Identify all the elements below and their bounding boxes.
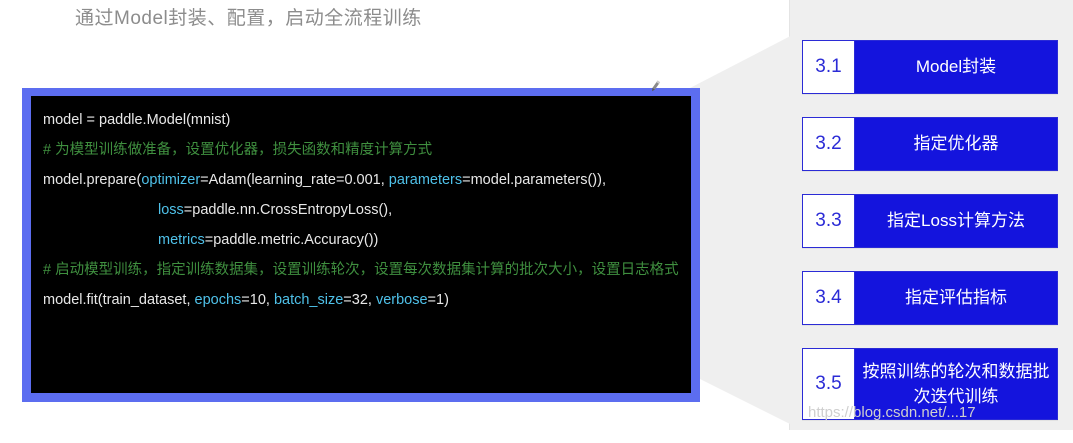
code-block-frame: model = paddle.Model(mnist)# 为模型训练做准备，设置… [22,88,700,402]
code-keyword-argument: loss [158,202,184,218]
step-item-3-4[interactable]: 3.4指定评估指标 [802,271,1058,325]
code-text: model = paddle.Model(mnist) [43,112,230,128]
page-title: 通过Model封装、配置，启动全流程训练 [75,3,422,30]
step-number: 3.2 [802,117,855,171]
code-line: metrics=paddle.metric.Accuracy()) [43,225,679,255]
code-text: =Adam(learning_rate=0.001, [200,172,389,188]
code-keyword-argument: batch_size [274,292,343,308]
step-item-3-2[interactable]: 3.2指定优化器 [802,117,1058,171]
slide-canvas: 通过Model封装、配置，启动全流程训练 model = paddle.Mode… [0,0,1073,430]
code-line: model.prepare(optimizer=Adam(learning_ra… [43,165,679,195]
code-keyword-argument: metrics [158,232,205,248]
step-label: 指定评估指标 [855,271,1058,325]
step-number: 3.3 [802,194,855,248]
step-label: 指定优化器 [855,117,1058,171]
step-item-3-3[interactable]: 3.3指定Loss计算方法 [802,194,1058,248]
code-text: =paddle.metric.Accuracy()) [205,232,379,248]
step-number: 3.1 [802,40,855,94]
step-number: 3.5 [802,348,855,420]
code-line: loss=paddle.nn.CrossEntropyLoss(), [43,195,679,225]
code-comment-line: # 为模型训练做准备，设置优化器，损失函数和精度计算方式 [43,138,679,162]
funnel-connector [690,30,802,430]
code-comment-line: # 启动模型训练，指定训练数据集，设置训练轮次，设置每次数据集计算的批次大小，设… [43,258,679,282]
code-text: # 为模型训练做准备，设置优化器，损失函数和精度计算方式 [43,142,432,158]
code-text: =1) [428,292,449,308]
code-text: # 启动模型训练，指定训练数据集，设置训练轮次，设置每次数据集计算的批次大小，设… [43,262,679,278]
step-number: 3.4 [802,271,855,325]
code-keyword-argument: parameters [389,172,462,188]
code-text: =paddle.nn.CrossEntropyLoss(), [184,202,392,218]
step-list: 3.1Model封装3.2指定优化器3.3指定Loss计算方法3.4指定评估指标… [802,40,1058,443]
code-text: =32, [343,292,376,308]
step-label: 按照训练的轮次和数据批次迭代训练 [855,348,1058,420]
pencil-icon [648,79,662,93]
code-line: model.fit(train_dataset, epochs=10, batc… [43,285,679,315]
panel-divider [789,0,790,430]
step-label: Model封装 [855,40,1058,94]
code-text: =model.parameters()), [462,172,606,188]
code-text: model.fit(train_dataset, [43,292,195,308]
code-text: model.prepare( [43,172,141,188]
code-block[interactable]: model = paddle.Model(mnist)# 为模型训练做准备，设置… [31,96,691,393]
code-keyword-argument: epochs [195,292,242,308]
code-text: =10, [241,292,274,308]
step-item-3-5[interactable]: 3.5按照训练的轮次和数据批次迭代训练 [802,348,1058,420]
code-keyword-argument: optimizer [141,172,200,188]
code-keyword-argument: verbose [376,292,428,308]
step-label: 指定Loss计算方法 [855,194,1058,248]
code-line: model = paddle.Model(mnist) [43,105,679,135]
step-item-3-1[interactable]: 3.1Model封装 [802,40,1058,94]
